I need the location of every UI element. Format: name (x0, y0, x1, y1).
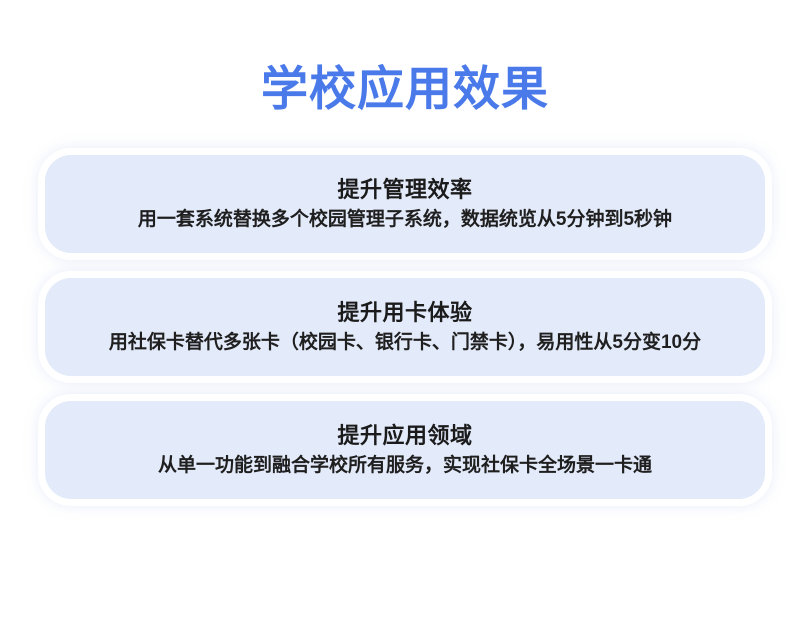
benefit-card: 提升管理效率 用一套系统替换多个校园管理子系统，数据统览从5分钟到5秒钟 (45, 155, 765, 253)
benefit-card-body: 从单一功能到融合学校所有服务，实现社保卡全场景一卡通 (158, 453, 652, 479)
benefit-card-heading: 提升用卡体验 (337, 298, 472, 328)
benefit-card-body: 用社保卡替代多张卡（校园卡、银行卡、门禁卡），易用性从5分变10分 (109, 330, 701, 356)
benefit-card: 提升用卡体验 用社保卡替代多张卡（校园卡、银行卡、门禁卡），易用性从5分变10分 (45, 278, 765, 376)
benefit-card-heading: 提升管理效率 (337, 175, 472, 205)
page-title: 学校应用效果 (0, 58, 810, 120)
benefit-card-body: 用一套系统替换多个校园管理子系统，数据统览从5分钟到5秒钟 (138, 207, 672, 233)
page-root: 学校应用效果 提升管理效率 用一套系统替换多个校园管理子系统，数据统览从5分钟到… (0, 0, 810, 622)
benefit-card-heading: 提升应用领域 (337, 421, 472, 451)
benefit-card-list: 提升管理效率 用一套系统替换多个校园管理子系统，数据统览从5分钟到5秒钟 提升用… (45, 155, 765, 499)
benefit-card: 提升应用领域 从单一功能到融合学校所有服务，实现社保卡全场景一卡通 (45, 401, 765, 499)
